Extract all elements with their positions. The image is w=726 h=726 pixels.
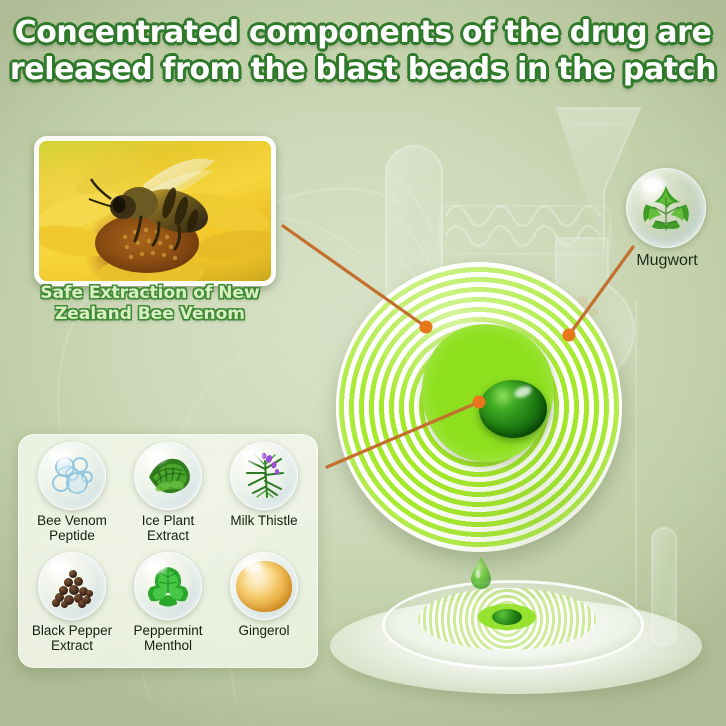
bee-photo-card	[34, 136, 276, 286]
bee-illustration	[39, 141, 271, 281]
mugwort-callout[interactable]	[626, 168, 706, 248]
mugwort-herb-bubble-icon	[626, 168, 706, 248]
ingredient-label-line1: Black Pepper	[32, 623, 112, 638]
ingredient-milk-thistle[interactable]: Milk Thistle	[216, 442, 312, 552]
falling-green-droplet-icon	[470, 556, 492, 590]
page-title: Concentrated components of the drug are …	[0, 14, 726, 88]
ingredient-ice-plant-extract[interactable]: Ice Plant Extract	[120, 442, 216, 552]
title-line-2: released from the blast beads in the pat…	[0, 51, 726, 88]
ingredient-label-line2: Menthol	[144, 638, 192, 653]
bee-photo	[39, 141, 271, 281]
poster-canvas: Concentrated components of the drug are …	[0, 0, 726, 726]
ingredient-label-line1: Gingerol	[238, 623, 289, 638]
bee-venom-peptide-gel-icon	[38, 442, 106, 510]
peppermint-leaf-icon	[134, 552, 202, 620]
ingredient-label-line2: Peptide	[49, 528, 95, 543]
mugwort-label: Mugwort	[612, 252, 722, 270]
bee-caption-line-1: Safe Extraction of New	[18, 283, 282, 304]
ginger-powder-icon	[230, 552, 298, 620]
ingredients-panel: Bee Venom Peptide	[18, 434, 318, 668]
blast-bead	[479, 380, 547, 438]
ingredient-bee-venom-peptide[interactable]: Bee Venom Peptide	[24, 442, 120, 552]
main-patch	[336, 262, 622, 552]
ingredient-peppermint-menthol[interactable]: Peppermint Menthol	[120, 552, 216, 662]
bee-photo-caption: Safe Extraction of New Zealand Bee Venom	[18, 283, 282, 325]
ingredient-label-line1: Peppermint	[133, 623, 202, 638]
ingredient-label-line1: Bee Venom	[37, 513, 107, 528]
title-line-1: Concentrated components of the drug are	[0, 14, 726, 51]
bee-caption-line-2: Zealand Bee Venom	[18, 304, 282, 325]
ingredient-black-pepper-extract[interactable]: Black Pepper Extract	[24, 552, 120, 662]
ingredient-label-line1: Ice Plant	[142, 513, 195, 528]
ingredient-label-line2: Extract	[147, 528, 189, 543]
mini-blast-bead	[492, 609, 522, 625]
milk-thistle-plant-icon	[230, 442, 298, 510]
black-peppercorns-icon	[38, 552, 106, 620]
ingredient-label-line2: Extract	[51, 638, 93, 653]
ingredient-gingerol[interactable]: Gingerol	[216, 552, 312, 662]
ingredient-label-line1: Milk Thistle	[230, 513, 297, 528]
ice-plant-leaf-icon	[134, 442, 202, 510]
